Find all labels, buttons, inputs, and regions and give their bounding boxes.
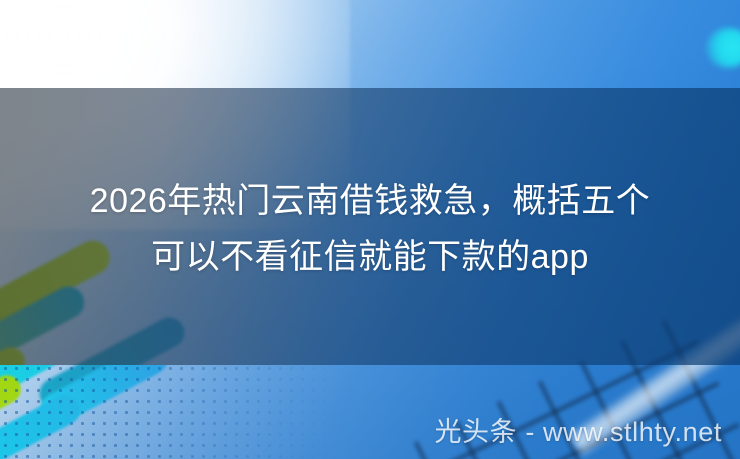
page-title-line-2: 可以不看征信就能下款的app bbox=[30, 229, 710, 285]
halftone-dots-decoration bbox=[0, 363, 330, 459]
cyan-blob-decoration bbox=[706, 28, 740, 68]
page-title: 2026年热门云南借钱救急，概括五个 可以不看征信就能下款的app bbox=[30, 169, 710, 285]
page-title-line-1: 2026年热门云南借钱救急，概括五个 bbox=[30, 173, 710, 229]
watermark-text: 光头条 - www.stlhty.net bbox=[434, 415, 722, 449]
article-thumbnail-banner: 2026年热门云南借钱救急，概括五个 可以不看征信就能下款的app 光头条 - … bbox=[0, 0, 740, 459]
dark-title-band: 2026年热门云南借钱救急，概括五个 可以不看征信就能下款的app bbox=[0, 88, 740, 365]
